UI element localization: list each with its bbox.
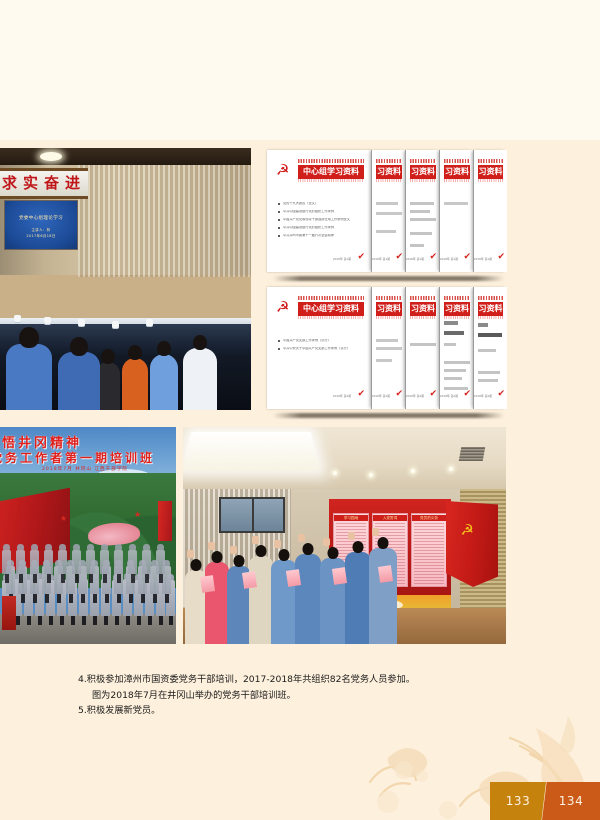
board-panel-text [414, 523, 444, 584]
page-number-right: 134 [542, 782, 600, 820]
teacup [78, 319, 85, 326]
document-bullet [444, 361, 470, 364]
document-issue-date: 2018年 第2期 [333, 394, 351, 398]
document-header-rule [410, 159, 436, 163]
document-issue-date: 2018年 第1期 [474, 257, 492, 261]
downlight [411, 469, 415, 473]
document-issue-date: 2018年 第2期 [406, 394, 424, 398]
uniformed-participant [72, 550, 81, 574]
document-bullet: 中共中国建设银行党的组织工作条例 [283, 226, 367, 229]
screen-title: 党委中心组理论学习 [5, 215, 77, 222]
meeting-attendee [58, 352, 100, 410]
bullet-dot [278, 211, 280, 213]
bullet-dot [278, 227, 280, 229]
document-header-rule [444, 296, 470, 300]
document-title: 习资料 [444, 164, 470, 180]
party-emblem-icon: ☭ [276, 162, 293, 178]
document-bullet: 中国共产党支部工作条例（试行） [283, 339, 363, 342]
document-title: 习资料 [376, 301, 402, 317]
document-title: 习资料 [478, 164, 503, 180]
uniformed-participant [100, 550, 109, 574]
document-bullet [376, 359, 392, 362]
projection-screen: 党委中心组理论学习 主讲人：林 2017年6月18日 [4, 200, 78, 250]
bullet-dot [278, 203, 280, 205]
document-subrule [478, 316, 503, 319]
downlight [333, 471, 337, 475]
oath-card [200, 575, 215, 593]
document-subrule [410, 316, 436, 319]
uniformed-participant [86, 550, 95, 574]
document-cover: 习资料 2018年 第1期 ✔ [405, 150, 440, 272]
document-issue-date: 2018年 第1期 [372, 257, 390, 261]
document-header-rule [298, 296, 364, 300]
window [219, 497, 285, 533]
oath-participant [205, 562, 229, 644]
document-header-rule [376, 296, 402, 300]
document-cover: 习资料 2018年 第1期 ✔ [439, 150, 474, 272]
meeting-attendee [6, 344, 52, 410]
document-issue-date: 2018年 第2期 [372, 394, 390, 398]
meeting-banner-text: 求实奋进 [0, 168, 88, 199]
document-footer-logo: ✔ [497, 390, 505, 399]
document-cover: 习资料 2018年 第2期 ✔ [473, 287, 507, 409]
document-bullet [444, 202, 468, 205]
meeting-attendee [183, 348, 217, 410]
ceiling-vent [459, 447, 485, 461]
downlight [449, 467, 453, 471]
document-footer-logo: ✔ [395, 390, 403, 399]
oath-card [332, 567, 347, 585]
document-bullet [478, 349, 496, 352]
uniformed-participant [44, 550, 53, 574]
caption-line-1: 4.积极参加漳州市国资委党务干部培训，2017-2018年共组织82名党务人员参… [78, 672, 548, 688]
document-bullet: 中国共产党党政领导干部选拔任用工作条例全文 [283, 218, 369, 221]
document-header-rule [444, 159, 470, 163]
document-title: 中心组学习资料 [298, 164, 364, 180]
document-bullet: 党的十九大报告（全文） [283, 202, 367, 205]
document-title: 习资料 [410, 164, 436, 180]
document-footer-logo: ✔ [429, 253, 437, 262]
document-subrule [298, 316, 364, 319]
document-bullet [376, 230, 396, 233]
soldier-rows [0, 542, 176, 616]
red-podium-box [2, 596, 16, 630]
document-bullet [376, 347, 402, 350]
document-issue-date: 2018年 第2期 [474, 394, 492, 398]
uniformed-participant [156, 550, 165, 574]
document-bullet: 中共中央关于中国共产党支部工作条例（试行） [283, 347, 369, 350]
board-panel: 党员的义务 [411, 513, 447, 587]
document-bullet [376, 202, 398, 205]
red-flag [158, 501, 172, 541]
document-subrule [478, 179, 503, 182]
oath-card [242, 571, 257, 589]
document-title: 习资料 [478, 301, 503, 317]
oath-card [286, 569, 301, 587]
document-title: 中心组学习资料 [298, 301, 364, 317]
document-footer-logo: ✔ [357, 253, 365, 262]
meeting-curtain [78, 165, 251, 277]
document-bullet [444, 343, 456, 346]
uniformed-participant [16, 550, 25, 574]
meeting-ceiling [0, 148, 251, 165]
ceiling-light-panel [183, 432, 320, 471]
document-cover: 习资料 2018年 第2期 ✔ [371, 287, 406, 409]
document-bullet [444, 377, 462, 380]
document-footer-logo: ✔ [463, 390, 471, 399]
oath-participant [345, 552, 371, 644]
board-panel-caption: 入党誓词 [373, 515, 407, 521]
document-bullet [410, 202, 434, 205]
document-subrule [298, 179, 364, 182]
document-bullet [444, 331, 464, 335]
party-oath-ceremony-photo: 学习园地 入党誓词 党员的义务 ☭ [183, 427, 506, 644]
bullet-dot [278, 340, 280, 342]
document-footer-logo: ✔ [395, 253, 403, 262]
screen-subtitle-2: 2017年6月18日 [5, 233, 77, 240]
stack-shadow [273, 413, 504, 418]
document-cover: 习资料 2018年 第1期 ✔ [473, 150, 507, 272]
communist-party-flag [446, 501, 498, 587]
jinggangshan-group-photo: ★ ★ [0, 427, 176, 644]
downlight [369, 473, 373, 477]
document-bullet [376, 339, 398, 342]
page-number-bar: 133 134 [490, 782, 600, 820]
uniformed-participant [58, 550, 67, 574]
meeting-attendee [150, 354, 178, 410]
meeting-room-photo: 求实奋进 党委中心组理论学习 主讲人：林 2017年6月18日 [0, 148, 251, 410]
document-title: 习资料 [410, 301, 436, 317]
document-footer-logo: ✔ [429, 390, 437, 399]
document-subrule [376, 179, 402, 182]
bullet-dot [278, 219, 280, 221]
document-bullet: 中共中国建设银行党的组织工作条例 [283, 210, 367, 213]
uniformed-participant [2, 550, 11, 574]
document-bullet [410, 210, 430, 213]
oath-participant [249, 556, 273, 644]
page-top-band [0, 0, 600, 140]
document-issue-date: 2018年 第2期 [440, 394, 458, 398]
document-subrule [444, 179, 470, 182]
document-cover: 习资料 2018年 第1期 ✔ [371, 150, 406, 272]
document-header-rule [478, 159, 503, 163]
document-bullet [376, 212, 402, 215]
bullet-dot [278, 348, 280, 350]
red-star-icon: ★ [60, 515, 67, 523]
teacup [14, 315, 21, 322]
uniformed-participant [128, 550, 137, 574]
party-emblem-icon: ☭ [276, 299, 293, 315]
board-panel-caption: 党员的义务 [412, 515, 446, 521]
document-bullet [410, 343, 436, 346]
board-panel-caption: 学习园地 [334, 515, 368, 521]
bullet-dot [278, 235, 280, 237]
oath-participant [369, 548, 397, 644]
document-stack-top: ☭ 中心组学习资料 党的十九大报告（全文） 中共中国建设银行党的组织工作条例 中… [267, 150, 506, 278]
caption-line-3: 5.积极发展新党员。 [78, 703, 548, 719]
uniformed-participant [142, 550, 151, 574]
document-issue-date: 2018年 第1期 [333, 257, 351, 261]
document-bullet [410, 232, 432, 235]
document-subrule [444, 316, 470, 319]
page-number-left: 133 [490, 782, 546, 820]
oath-card [378, 565, 393, 583]
document-header-rule [410, 296, 436, 300]
document-cover: 习资料 2018年 第2期 ✔ [439, 287, 474, 409]
stack-shadow [273, 276, 504, 281]
teacup [146, 319, 153, 326]
document-bullet [478, 333, 502, 337]
document-cover: 习资料 2018年 第2期 ✔ [405, 287, 440, 409]
document-footer-logo: ✔ [497, 253, 505, 262]
caption-block: 4.积极参加漳州市国资委党务干部培训，2017-2018年共组织82名党务人员参… [78, 672, 548, 719]
document-title: 习资料 [444, 301, 470, 317]
document-stack-bottom: ☭ 中心组学习资料 中国共产党支部工作条例（试行） 中共中央关于中国共产党支部工… [267, 287, 506, 415]
document-title: 习资料 [376, 164, 402, 180]
document-cover: ☭ 中心组学习资料 中国共产党支部工作条例（试行） 中共中央关于中国共产党支部工… [267, 287, 371, 409]
document-cover: ☭ 中心组学习资料 党的十九大报告（全文） 中共中国建设银行党的组织工作条例 中… [267, 150, 371, 272]
page-root: 求实奋进 党委中心组理论学习 主讲人：林 2017年6月18日 ☭ 中心组学习资… [0, 0, 600, 820]
red-star-icon: ★ [134, 511, 141, 519]
document-bullet [478, 379, 498, 382]
document-subrule [376, 316, 402, 319]
document-header-rule [298, 159, 364, 163]
document-bullet [478, 371, 500, 374]
uniformed-participant [30, 550, 39, 574]
document-bullet [444, 369, 466, 372]
document-bullet [410, 244, 424, 247]
document-issue-date: 2018年 第1期 [406, 257, 424, 261]
teacup [44, 317, 51, 324]
document-header-rule [478, 296, 503, 300]
document-bullet [478, 323, 488, 327]
document-bullet [410, 218, 436, 221]
document-subrule [410, 179, 436, 182]
meeting-attendee [122, 358, 148, 410]
document-header-rule [376, 159, 402, 163]
document-footer-logo: ✔ [357, 390, 365, 399]
group-banner-line-3: 2018年7月 井冈山 江西干部学院 [0, 466, 176, 472]
teacup [112, 321, 119, 328]
caption-line-2: 图为2018年7月在井冈山举办的党务干部培训班。 [78, 688, 548, 704]
hammer-sickle-icon: ☭ [461, 523, 474, 538]
document-bullet: 中共漳州市委第十一届六次全会精神 [283, 234, 363, 237]
group-banner-line-2: 党务工作者第一期培训班 [0, 449, 176, 466]
document-issue-date: 2018年 第1期 [440, 257, 458, 261]
document-footer-logo: ✔ [463, 253, 471, 262]
document-bullet [444, 321, 458, 325]
uniformed-participant [114, 550, 123, 574]
oath-participant [295, 554, 321, 644]
